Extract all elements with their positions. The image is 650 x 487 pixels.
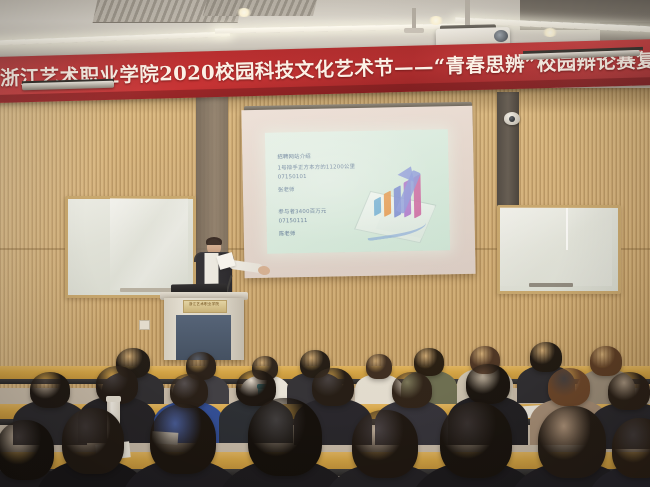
- slide-graphic-bar: [384, 190, 391, 217]
- slide-text-line: 1号辩手正方本方的11200公里: [277, 162, 355, 171]
- whiteboard-left: [65, 196, 196, 298]
- audience-head: [548, 368, 590, 406]
- whiteboard-right-seam: [566, 208, 568, 250]
- slide-text-line: 招聘网站介绍: [277, 152, 311, 161]
- slide-text-line: 07150101: [278, 174, 307, 181]
- security-camera-lens-icon: [509, 116, 515, 122]
- audience-head: [366, 354, 392, 379]
- downlight-1: [236, 8, 252, 17]
- audience-head: [392, 372, 432, 408]
- slide-text-line: 参与者3400百万元: [278, 207, 326, 216]
- audience-head: [590, 346, 622, 376]
- wall-socket-left: [139, 320, 150, 330]
- audience-head: [30, 372, 70, 408]
- slide-text-line: 张老师: [278, 185, 295, 193]
- downlight-2: [428, 16, 444, 25]
- downlight-3: [542, 28, 558, 37]
- audience-head: [612, 418, 650, 478]
- audience-head: [538, 406, 606, 478]
- audience-head: [440, 402, 512, 478]
- whiteboard-right-tray: [529, 283, 573, 287]
- air-diffuser-secondary-icon: [203, 0, 317, 16]
- projector-mount-plate: [404, 28, 424, 33]
- audience-head: [62, 408, 124, 474]
- podium-plaque-text: 浙江艺术职业学院: [184, 302, 224, 307]
- audience-head: [170, 374, 208, 408]
- audience-head: [352, 410, 418, 478]
- audience-head: [312, 368, 354, 406]
- audience-head: [150, 404, 216, 474]
- slide-text-line: 07150111: [279, 218, 308, 225]
- audience-head: [248, 398, 322, 476]
- lecture-hall-photo: 浙江艺术职业学院2020校园科技文化艺术节——“青春思辨”校园辩论赛复赛 招聘网…: [0, 0, 650, 487]
- audience-head: [0, 420, 54, 480]
- whiteboard-right-glare: [500, 207, 612, 286]
- projector-mount-pole-secondary: [412, 8, 416, 30]
- audience-head: [530, 342, 562, 372]
- slide-text-line: 陈老师: [279, 229, 296, 237]
- slide-chart-graphic: [359, 167, 442, 241]
- audience-head: [608, 372, 650, 410]
- thermos-cap: [106, 396, 121, 402]
- audience-head: [466, 364, 510, 404]
